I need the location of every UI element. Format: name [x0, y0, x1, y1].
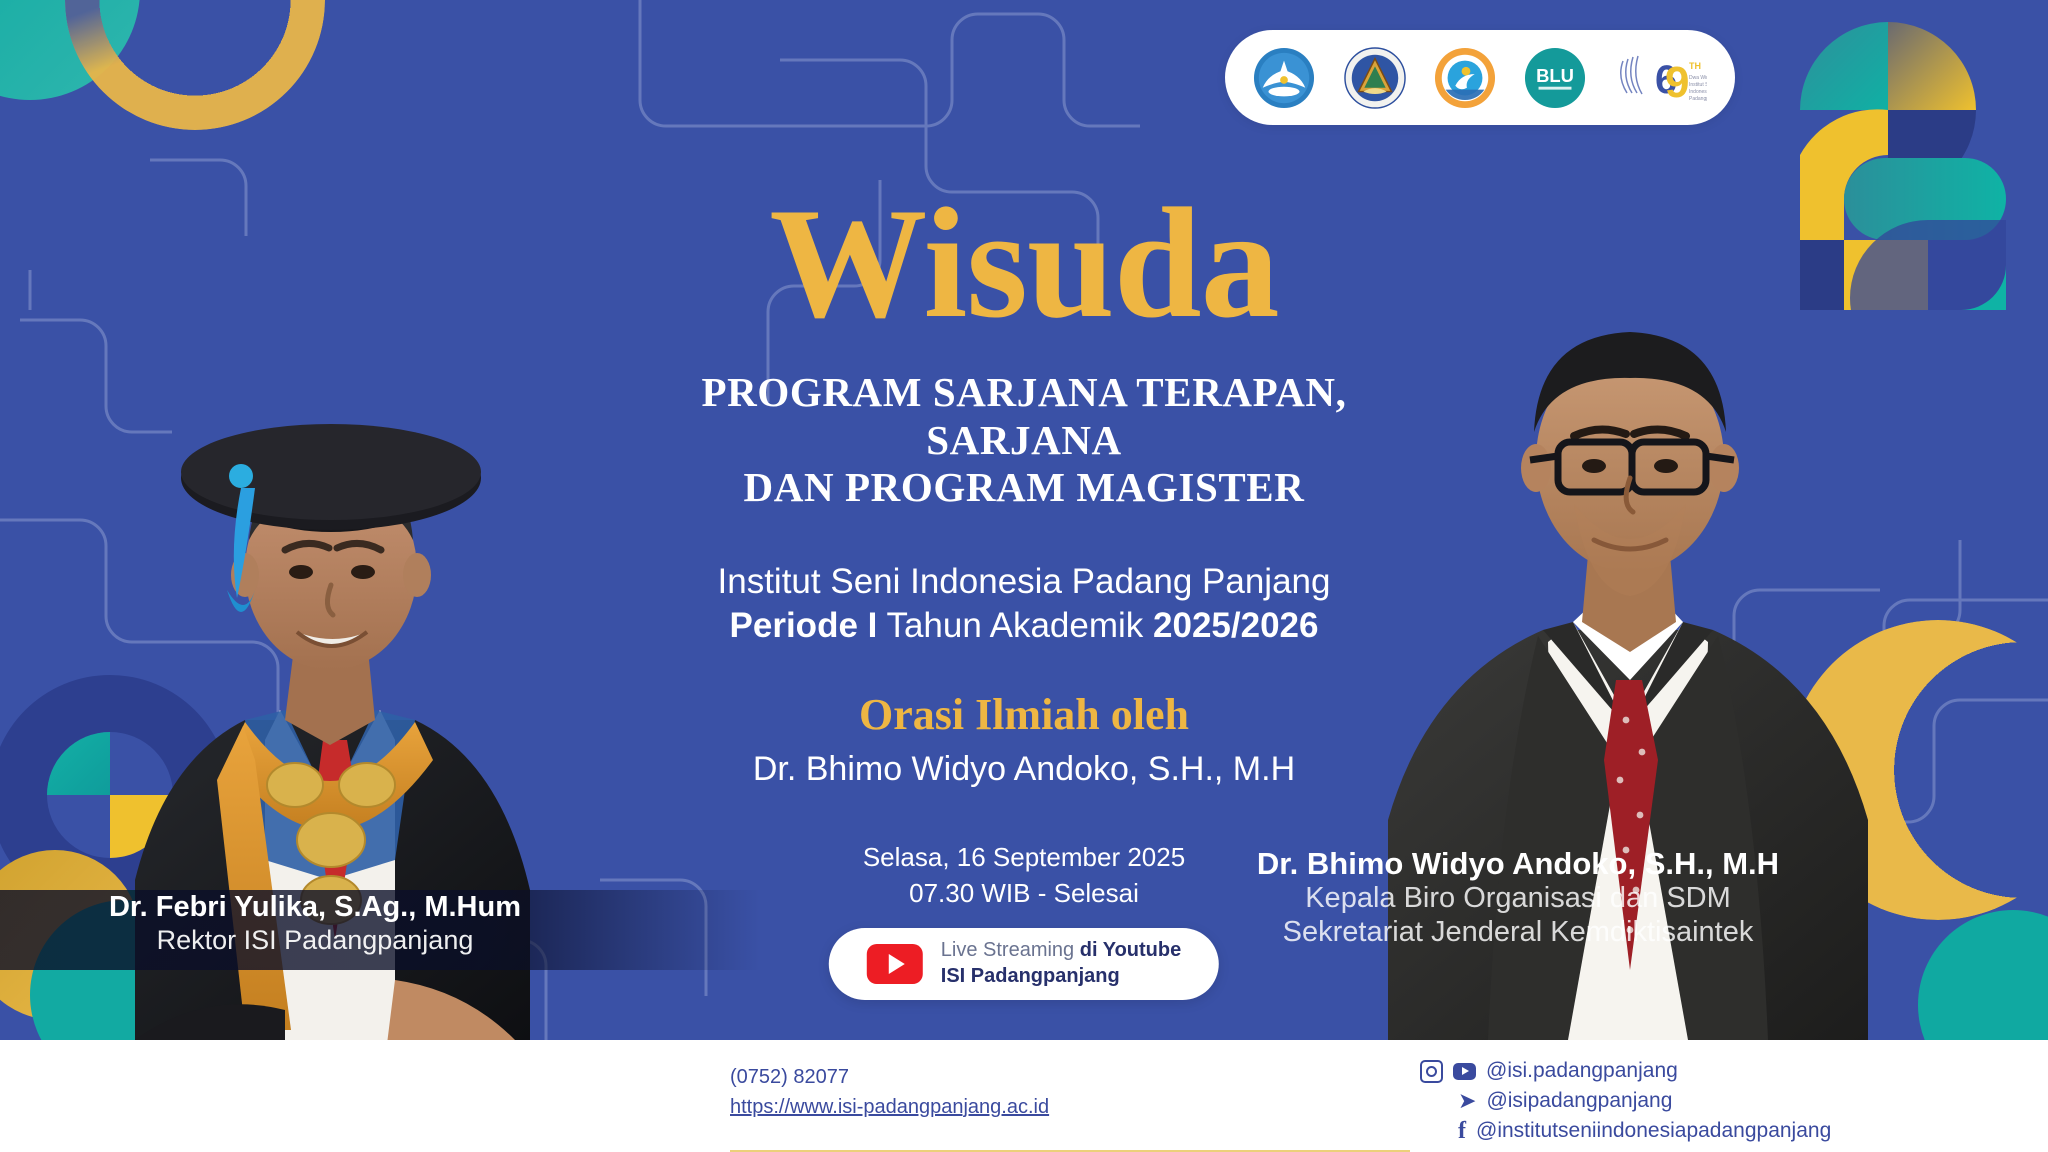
orator-plate-name: Dr. Bhimo Widyo Andoko, S.H., M.H — [1108, 845, 1928, 882]
orasi-heading: Orasi Ilmiah oleh — [614, 691, 1434, 739]
poster-body: BLU 6 9 TH Dwa Windu Institut Seni — [0, 0, 2048, 1040]
facebook-icon[interactable]: f — [1458, 1119, 1466, 1143]
period-year: 2025/2026 — [1153, 606, 1318, 645]
anniversary-69-logo: 6 9 TH Dwa Windu Institut Seni Indonesia… — [1615, 47, 1707, 109]
twitter-icon[interactable]: ➤ — [1458, 1090, 1476, 1112]
footer-contact: (0752) 82077 https://www.isi-padangpanja… — [730, 1062, 1049, 1122]
orator-name: Dr. Bhimo Widyo Andoko, S.H., M.H — [614, 750, 1434, 789]
tut-wuri-handayani-logo — [1253, 47, 1315, 109]
diktisaintek-berdampak-logo — [1434, 47, 1496, 109]
orator-role-line-2: Sekretariat Jenderal Kemdiktisaintek — [1108, 916, 1928, 950]
subtitle-line-1: PROGRAM SARJANA TERAPAN, SARJANA — [614, 369, 1434, 464]
youtube-icon — [867, 944, 923, 984]
institution-name: Institut Seni Indonesia Padang Panjang — [614, 560, 1434, 605]
poster-stage: BLU 6 9 TH Dwa Windu Institut Seni — [0, 0, 2048, 1152]
svg-text:Dwa Windu: Dwa Windu — [1689, 75, 1707, 81]
social-handle-instagram: @isi.padangpanjang — [1486, 1055, 1678, 1087]
isi-padangpanjang-logo — [1344, 47, 1406, 109]
social-row-instagram-youtube[interactable]: @isi.padangpanjang — [1420, 1056, 1831, 1086]
footer-socials: @isi.padangpanjang ➤ @isipadangpanjang f… — [1420, 1056, 1831, 1146]
decor-teal-quarter-topleft — [0, 0, 140, 100]
live-streaming-text: Live Streaming — [941, 939, 1080, 961]
social-row-facebook[interactable]: f @institutseniindonesiapadangpanjang — [1420, 1116, 1831, 1146]
footer-phone: (0752) 82077 — [730, 1062, 1049, 1092]
center-text-block: Wisuda PROGRAM SARJANA TERAPAN, SARJANA … — [614, 185, 1434, 789]
instagram-icon[interactable] — [1420, 1060, 1443, 1083]
decor-gold-arc-topleft — [65, 0, 325, 130]
rector-name: Dr. Febri Yulika, S.Ag., M.Hum — [0, 890, 630, 924]
svg-text:BLU: BLU — [1536, 64, 1574, 85]
svg-text:9: 9 — [1665, 58, 1689, 107]
logo-strip: BLU 6 9 TH Dwa Windu Institut Seni — [1225, 30, 1735, 125]
social-handle-facebook: @institutseniindonesiapadangpanjang — [1476, 1115, 1831, 1147]
academic-period: Periode I Tahun Akademik 2025/2026 — [614, 604, 1434, 649]
nameplate-rector: Dr. Febri Yulika, S.Ag., M.Hum Rektor IS… — [0, 890, 760, 970]
svg-text:TH: TH — [1689, 61, 1701, 71]
page-title: Wisuda — [614, 185, 1434, 343]
footer-website-link[interactable]: https://www.isi-padangpanjang.ac.id — [730, 1096, 1049, 1118]
social-handle-twitter: @isipadangpanjang — [1486, 1085, 1672, 1117]
live-streaming-channel: ISI Padangpanjang — [941, 964, 1181, 990]
youtube-icon[interactable] — [1453, 1063, 1476, 1080]
period-middle-label: Tahun Akademik — [877, 606, 1153, 645]
social-row-twitter[interactable]: ➤ @isipadangpanjang — [1420, 1086, 1831, 1116]
svg-text:Padangpanjang: Padangpanjang — [1689, 96, 1707, 102]
rector-role: Rektor ISI Padangpanjang — [0, 924, 630, 956]
period-label: Periode I — [730, 606, 878, 645]
nameplate-orator: Dr. Bhimo Widyo Andoko, S.H., M.H Kepala… — [1108, 845, 2048, 949]
subtitle-line-2: DAN PROGRAM MAGISTER — [614, 464, 1434, 512]
svg-text:Indonesia: Indonesia — [1689, 89, 1707, 95]
footer-bar: (0752) 82077 https://www.isi-padangpanja… — [0, 1040, 2048, 1152]
blu-logo: BLU — [1524, 47, 1586, 109]
orator-role-line-1: Kepala Biro Organisasi dan SDM — [1108, 882, 1928, 916]
svg-text:Institut Seni: Institut Seni — [1689, 82, 1707, 88]
